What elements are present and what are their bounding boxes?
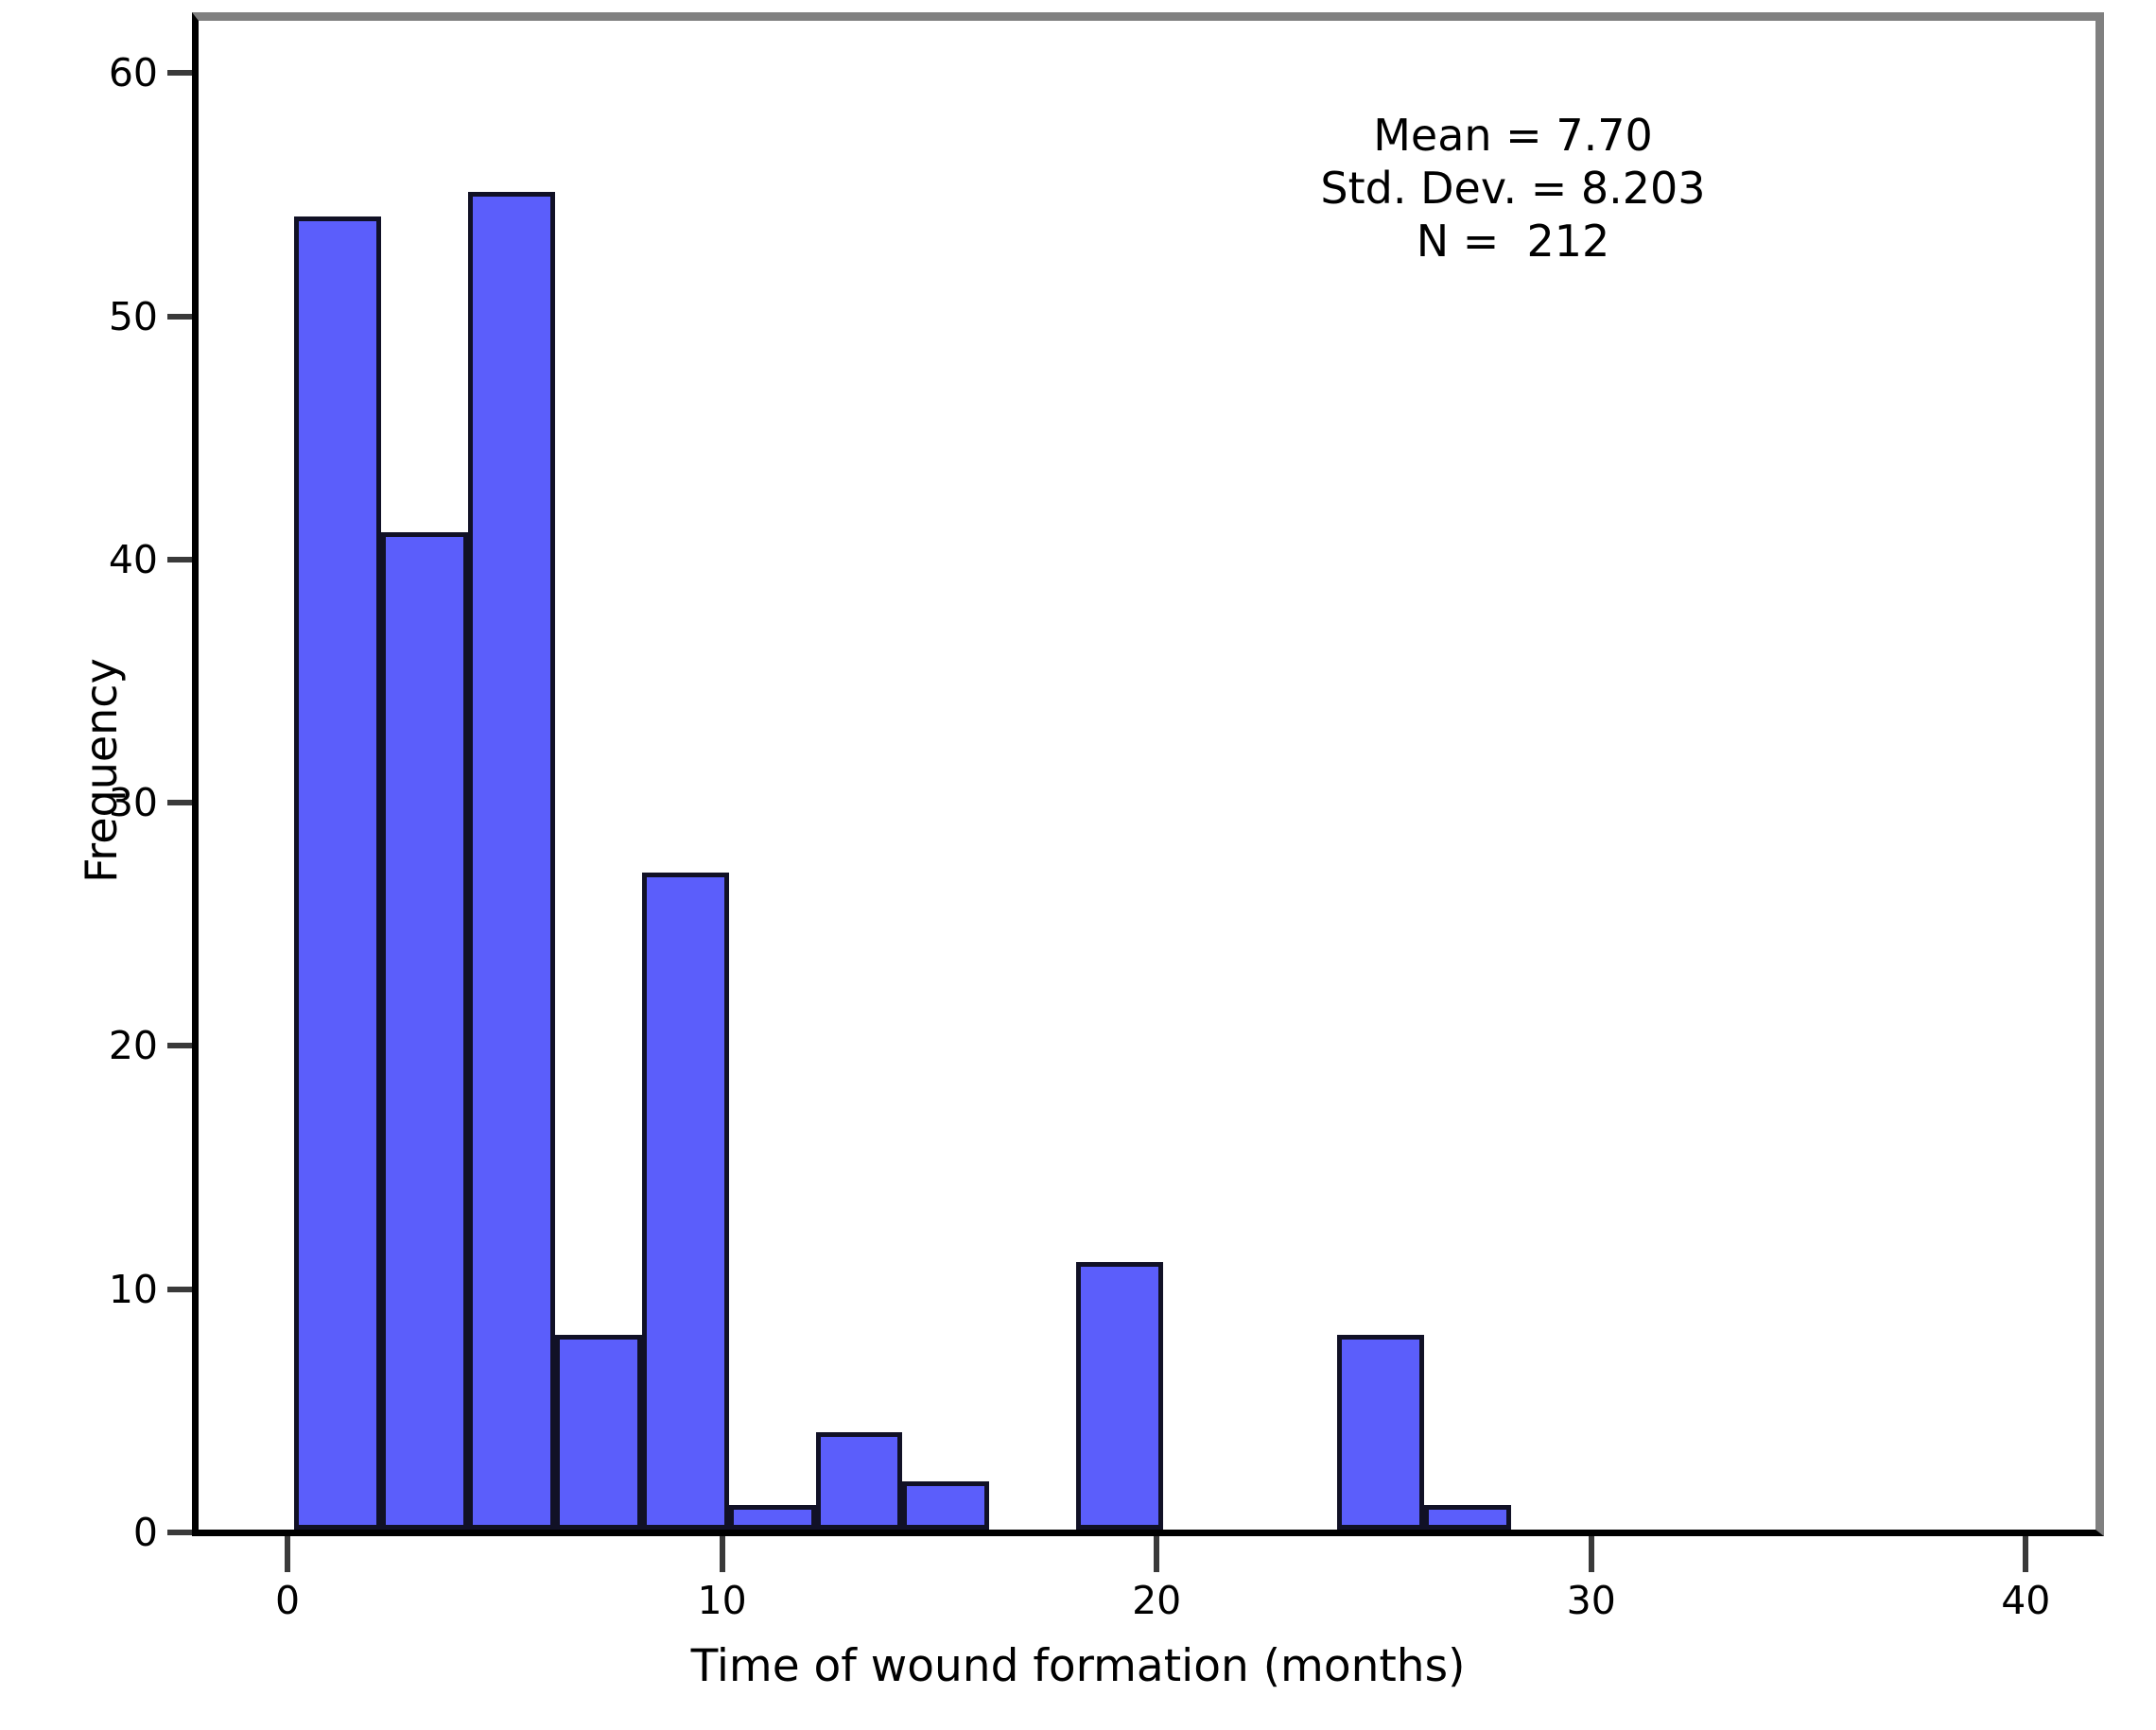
y-axis-tick-mark <box>167 1530 192 1535</box>
y-axis-title: Frequency <box>76 658 127 883</box>
x-axis-tick-mark <box>2023 1536 2028 1572</box>
x-axis-tick-label: 40 <box>2001 1578 2050 1623</box>
y-axis-tick-mark <box>167 1043 192 1048</box>
y-axis-tick-label: 10 <box>109 1267 158 1312</box>
y-axis-tick-mark <box>167 1287 192 1292</box>
histogram-bar <box>642 873 729 1530</box>
histogram-bar <box>1076 1262 1163 1530</box>
std-dev-label: Std. Dev. = 8.203 <box>1182 162 1844 215</box>
x-axis-tick-label: 10 <box>698 1578 747 1623</box>
y-axis-tick-label: 20 <box>109 1023 158 1068</box>
histogram-bar <box>1424 1505 1511 1530</box>
x-axis-tick-label: 20 <box>1132 1578 1181 1623</box>
x-axis-tick-label: 0 <box>275 1578 300 1623</box>
x-axis-tick-mark <box>720 1536 725 1572</box>
x-axis-tick-mark <box>1154 1536 1159 1572</box>
histogram-bar <box>816 1432 903 1530</box>
mean-label: Mean = 7.70 <box>1182 109 1844 162</box>
x-axis-title: Time of wound formation (months) <box>691 1640 1466 1692</box>
y-axis-tick-label: 60 <box>109 50 158 95</box>
y-axis-tick-label: 40 <box>109 537 158 582</box>
y-axis-tick-mark <box>167 557 192 562</box>
statistics-annotation: Mean = 7.70 Std. Dev. = 8.203 N = 212 <box>1182 109 1844 268</box>
histogram-bar <box>902 1481 989 1530</box>
y-axis-tick-label: 0 <box>133 1510 158 1555</box>
histogram-bar <box>468 192 555 1530</box>
y-axis-tick-label: 30 <box>109 780 158 825</box>
y-axis-tick-mark <box>167 800 192 805</box>
y-axis-tick-label: 50 <box>109 294 158 339</box>
histogram-bar <box>555 1335 642 1530</box>
x-axis-tick-mark <box>285 1536 290 1572</box>
x-axis-tick-label: 30 <box>1567 1578 1616 1623</box>
histogram-bar <box>1337 1335 1424 1530</box>
histogram-bar <box>294 216 381 1530</box>
y-axis-tick-mark <box>167 70 192 76</box>
histogram-bar <box>381 532 468 1530</box>
sample-size-label: N = 212 <box>1182 215 1844 268</box>
x-axis-tick-mark <box>1589 1536 1594 1572</box>
histogram-bar <box>729 1505 816 1530</box>
histogram-figure: Frequency 0102030405060 010203040 Time o… <box>0 0 2156 1730</box>
y-axis-tick-mark <box>167 314 192 320</box>
